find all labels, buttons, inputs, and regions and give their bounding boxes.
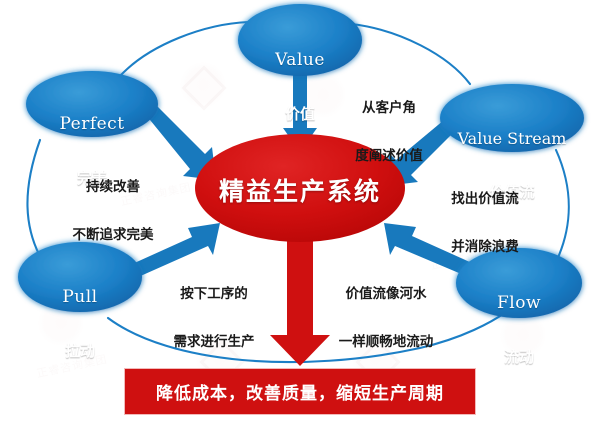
node-flow-label-en: Flow bbox=[457, 294, 581, 313]
outcome-banner: 降低成本，改善质量，缩短生产周期 bbox=[124, 368, 476, 415]
arc-perfect-value bbox=[120, 22, 248, 76]
annotation-valuestream-note-line2: 并消除浪费 bbox=[424, 240, 546, 256]
node-pull-label-en: Pull bbox=[18, 288, 142, 307]
node-flow-label-cn: 流动 bbox=[457, 349, 581, 366]
annotation-pull-note-line2: 需求进行生产 bbox=[152, 335, 276, 351]
annotation-flow-note-line1: 价值流像河水 bbox=[318, 287, 454, 303]
annotation-perfect-note: 持续改善 不断追求完美 bbox=[52, 148, 174, 275]
annotation-pull-note-line1: 按下工序的 bbox=[152, 287, 276, 303]
node-pull-label-cn: 拉动 bbox=[18, 343, 142, 360]
node-valuestream-label-en: Value Stream bbox=[440, 130, 584, 148]
annotation-valuestream-note-line1: 找出价值流 bbox=[424, 192, 546, 208]
node-perfect-label-en: Perfect bbox=[26, 115, 158, 134]
annotation-perfect-note-line2: 不断追求完美 bbox=[52, 228, 174, 244]
node-value-label-en: Value bbox=[238, 51, 362, 70]
annotation-value-note-line1: 从客户角 bbox=[333, 101, 445, 117]
annotation-flow-note-line2: 一样顺畅地流动 bbox=[318, 335, 454, 351]
outcome-banner-text: 降低成本，改善质量，缩短生产周期 bbox=[156, 379, 444, 404]
diagram-canvas: 正睿咨询集团 正睿咨询集团 正睿咨询集团 正睿咨询集团 bbox=[0, 0, 600, 429]
annotation-perfect-note-line1: 持续改善 bbox=[52, 180, 174, 196]
annotation-flow-note: 价值流像河水 一样顺畅地流动 bbox=[318, 255, 454, 382]
